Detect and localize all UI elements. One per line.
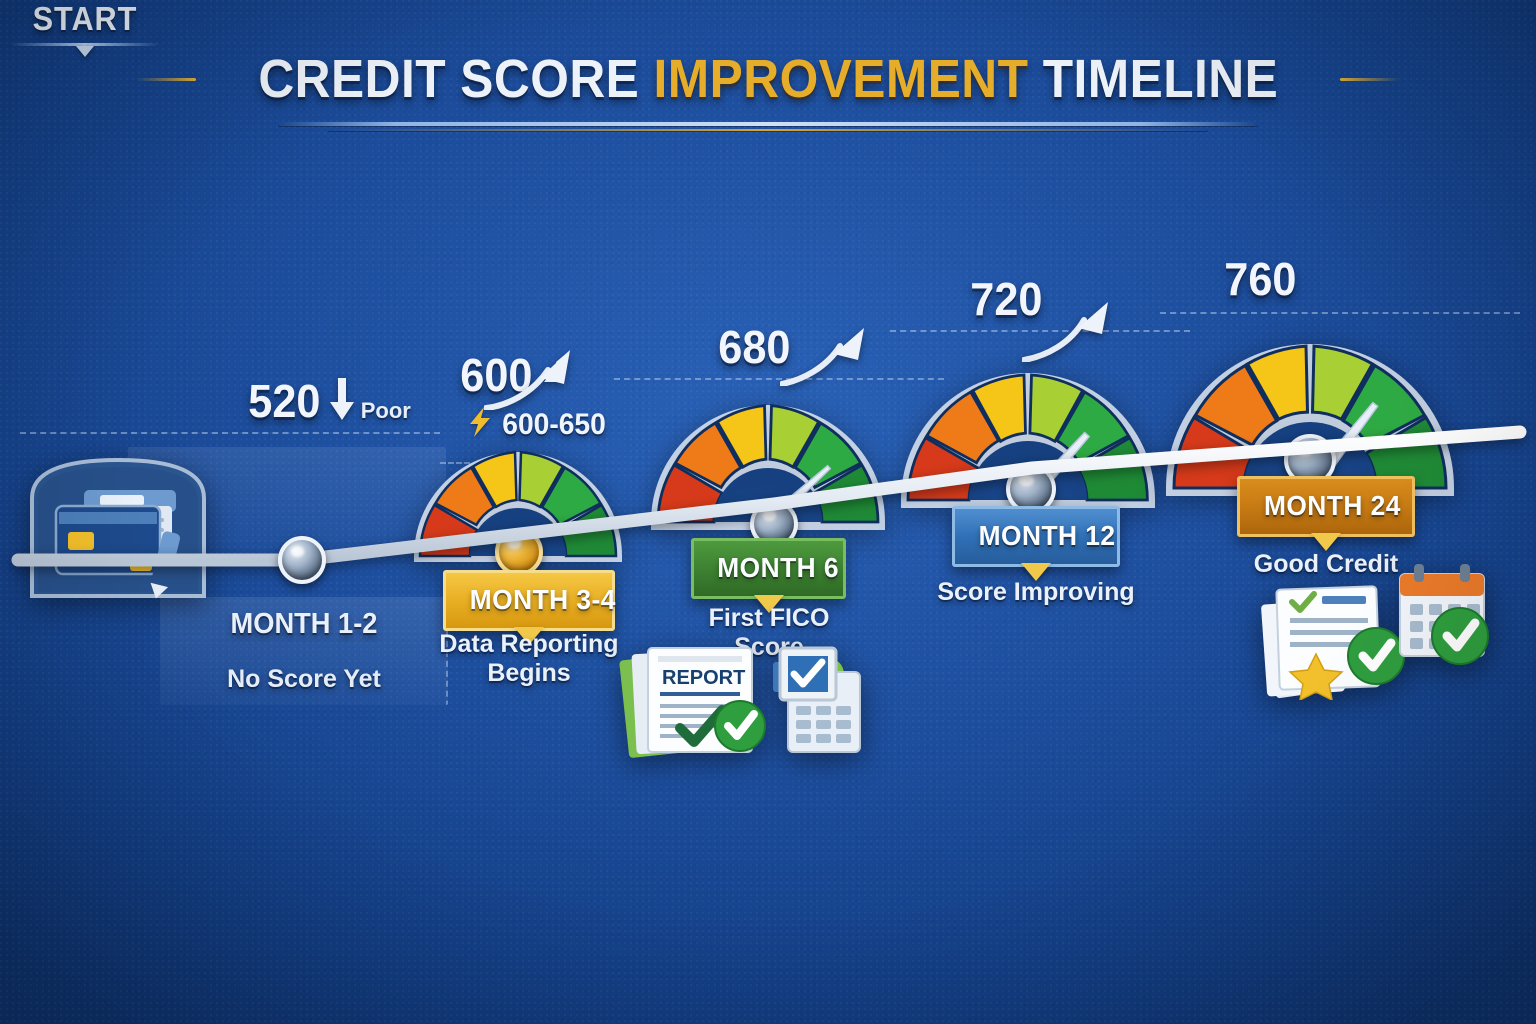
- lightning-bolt-icon: [468, 407, 492, 442]
- start-pointer-icon: [76, 46, 94, 57]
- page-title: CREDIT SCORE IMPROVEMENT TIMELINE: [0, 52, 1536, 131]
- month-label-24: MONTH 24: [1264, 490, 1388, 522]
- start-label: START: [6, 0, 164, 38]
- start-badge: START: [0, 0, 170, 57]
- title-part-3: TIMELINE: [1028, 49, 1278, 109]
- score-value-760: 760: [1224, 256, 1296, 302]
- caption-score-improving: Score Improving: [936, 578, 1136, 607]
- svg-text:REPORT: REPORT: [662, 667, 745, 689]
- score-label-poor: Poor: [361, 398, 411, 430]
- arrow-down-icon: [329, 378, 355, 425]
- title-underline-gold: [328, 129, 1208, 131]
- month-label-6: MONTH 6: [717, 552, 819, 584]
- month-badge-6[interactable]: MONTH 6: [691, 538, 846, 599]
- title-part-2: IMPROVEMENT: [653, 49, 1028, 109]
- month-badge-24[interactable]: MONTH 24: [1237, 476, 1415, 537]
- title-rule-right: [1340, 78, 1400, 81]
- credit-card-application-icon: [18, 440, 218, 605]
- rise-arrow-icon-stage-2: [484, 348, 590, 415]
- title-part-1: CREDIT SCORE: [258, 49, 653, 109]
- month-badge-12[interactable]: MONTH 12: [952, 506, 1120, 567]
- title-underline: [278, 122, 1258, 126]
- timeline-node-stage-2[interactable]: [495, 528, 543, 576]
- rise-arrow-icon-stage-4: [1022, 300, 1122, 367]
- gridline-720: [1160, 312, 1520, 314]
- gridline-520: [20, 432, 440, 434]
- range-chip-600-650: 600-650: [468, 407, 609, 442]
- credit-report-check-icon: REPORT: [618, 640, 870, 765]
- month-label-3-4: MONTH 3-4: [470, 584, 588, 616]
- score-value-520: 520: [248, 378, 320, 424]
- range-text: 600-650: [502, 408, 606, 442]
- caption-no-score-yet: No Score Yet: [160, 665, 448, 694]
- rise-arrow-icon-stage-3: [780, 326, 880, 391]
- title-rule-left: [136, 78, 196, 81]
- month-label-12: MONTH 12: [979, 520, 1094, 552]
- month-label-1-2: MONTH 1-2: [169, 608, 440, 641]
- badge-pointer-icon: [1311, 533, 1341, 551]
- stage-1-month-block: MONTH 1-2 No Score Yet: [160, 608, 448, 694]
- month-badge-3-4[interactable]: MONTH 3-4: [443, 570, 615, 631]
- score-callout-stage-5: 760: [1222, 256, 1299, 302]
- score-callout-stage-1: 520 Poor: [246, 378, 411, 430]
- infographic-canvas: CREDIT SCORE IMPROVEMENT TIMELINE START …: [0, 0, 1536, 1024]
- timeline-node-stage-1[interactable]: [278, 536, 326, 584]
- documents-calendar-approved-icon: [1252, 560, 1492, 705]
- caption-data-reporting-begins: Data Reporting Begins: [423, 630, 635, 687]
